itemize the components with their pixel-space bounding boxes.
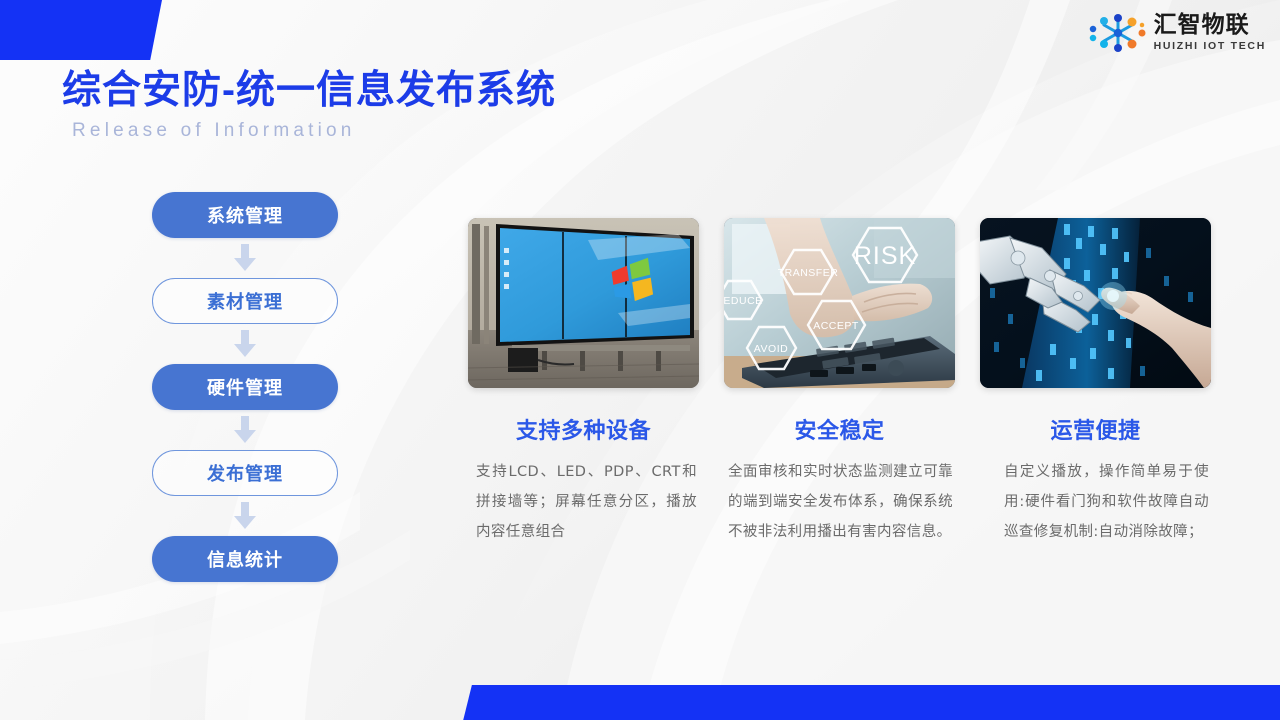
decor-corner-top-left — [0, 0, 162, 60]
logo-name-cn: 汇智物联 — [1154, 14, 1266, 37]
svg-text:AVOID: AVOID — [754, 343, 788, 355]
decor-corner-bottom-right — [462, 685, 1280, 720]
svg-text:REDUCE: REDUCE — [724, 295, 763, 307]
slide-root: 汇智物联 HUIZHI IOT TECH 综合安防-统一信息发布系统 Relea… — [0, 0, 1280, 720]
flow-node-system-management[interactable]: 系统管理 — [152, 192, 338, 238]
arrow-down-icon — [152, 496, 338, 536]
flow-node-label: 系统管理 — [207, 202, 283, 228]
robot-human-hand-data-photo — [980, 218, 1211, 388]
logo-text-block: 汇智物联 HUIZHI IOT TECH — [1154, 14, 1266, 52]
flow-node-label: 信息统计 — [207, 546, 283, 572]
flow-node-hardware-management[interactable]: 硬件管理 — [152, 364, 338, 410]
molecule-network-icon — [1089, 14, 1147, 52]
arrow-down-icon — [152, 238, 338, 278]
feature-card-title: 安全稳定 — [724, 413, 955, 445]
arrow-down-icon — [152, 324, 338, 364]
feature-card-desc: 支持LCD、LED、PDP、CRT和拼接墙等；屏幕任意分区，播放内容任意组合 — [468, 457, 699, 547]
flow-node-label: 发布管理 — [207, 460, 283, 486]
svg-text:RISK: RISK — [854, 242, 916, 270]
brand-logo: 汇智物联 HUIZHI IOT TECH — [1089, 14, 1266, 52]
header-block: 综合安防-统一信息发布系统 Release of Information — [62, 68, 556, 142]
flow-node-material-management[interactable]: 素材管理 — [152, 278, 338, 324]
feature-card: RISK TRANSFER REDUCE ACCEPT AVOID 安全稳定 全… — [724, 218, 955, 547]
page-subtitle: Release of Information — [72, 120, 556, 142]
flow-node-label: 素材管理 — [207, 288, 283, 314]
feature-card-desc: 自定义播放，操作简单易于使用:硬件看门狗和软件故障自动巡查修复机制:自动消除故障… — [980, 457, 1211, 547]
feature-card-title: 运营便捷 — [980, 413, 1211, 445]
feature-card-desc: 全面审核和实时状态监测建立可靠的端到端安全发布体系，确保系统不被非法利用播出有害… — [724, 457, 955, 547]
svg-text:TRANSFER: TRANSFER — [778, 267, 839, 279]
flow-node-information-statistics[interactable]: 信息统计 — [152, 536, 338, 582]
svg-text:ACCEPT: ACCEPT — [813, 320, 859, 332]
feature-card: 运营便捷 自定义播放，操作简单易于使用:硬件看门狗和软件故障自动巡查修复机制:自… — [980, 218, 1211, 547]
feature-card-list: 支持多种设备 支持LCD、LED、PDP、CRT和拼接墙等；屏幕任意分区，播放内… — [468, 218, 1212, 547]
video-wall-display-photo — [468, 218, 699, 388]
page-title: 综合安防-统一信息发布系统 — [62, 68, 556, 114]
arrow-down-icon — [152, 410, 338, 450]
feature-card-title: 支持多种设备 — [468, 413, 699, 445]
feature-card: 支持多种设备 支持LCD、LED、PDP、CRT和拼接墙等；屏幕任意分区，播放内… — [468, 218, 699, 547]
flow-node-label: 硬件管理 — [207, 374, 283, 400]
logo-name-en: HUIZHI IOT TECH — [1154, 41, 1266, 52]
process-flow: 系统管理 素材管理 硬件管理 发布管理 — [152, 192, 342, 582]
risk-management-laptop-photo: RISK TRANSFER REDUCE ACCEPT AVOID — [724, 218, 955, 388]
flow-node-release-management[interactable]: 发布管理 — [152, 450, 338, 496]
